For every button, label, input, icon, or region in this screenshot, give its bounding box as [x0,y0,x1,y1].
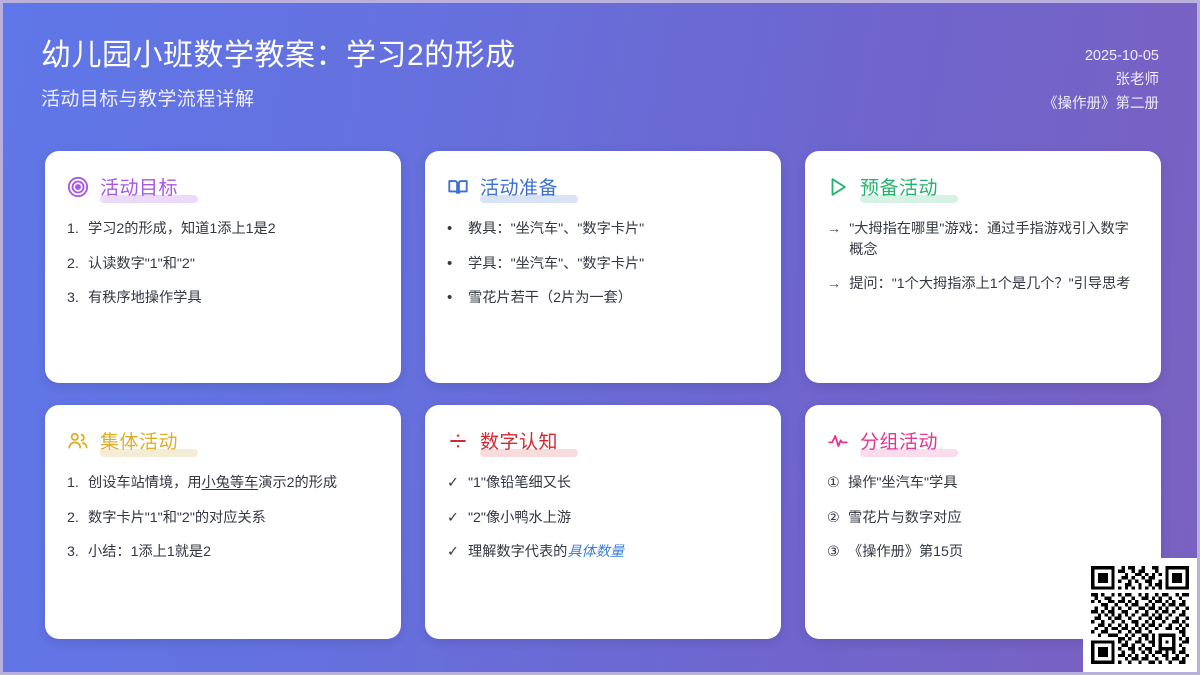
card-title: 分组活动 [860,427,938,454]
list-item: → 提问："1个大拇指添上1个是几个？"引导思考 [827,274,1139,295]
card-activity-goals[interactable]: 活动目标 1. 学习2的形成，知道1添上1是2 2. 认读数字"1"和"2" 3… [45,151,401,383]
header-meta: 2025-10-05 张老师 《操作册》第二册 [1043,31,1159,117]
card-list: ① 操作"坐汽车"学具 ② 雪花片与数字对应 ③ 《操作册》第15页 [827,473,1139,563]
list-marker: 2. [67,254,80,275]
card-title: 预备活动 [860,173,938,200]
qr-code-icon [1091,566,1189,664]
list-marker: → [827,274,841,295]
list-item: ✓ "2"像小鸭水上游 [447,508,759,529]
list-marker: • [447,254,460,274]
list-marker: ✓ [447,473,460,494]
list-marker: ③ [827,542,840,563]
card-title: 活动准备 [480,173,558,200]
list-item: ① 操作"坐汽车"学具 [827,473,1139,494]
list-text: 雪花片与数字对应 [848,508,1139,529]
list-item: 2. 数字卡片"1"和"2"的对应关系 [67,508,379,529]
pulse-icon [827,430,849,452]
text-pre: 创设车站情境，用 [88,475,202,491]
list-item: ✓ 理解数字代表的具体数量 [447,542,759,563]
card-header: 集体活动 [67,427,379,454]
play-icon [827,176,849,198]
list-marker: 3. [67,542,80,563]
list-item: 3. 有秩序地操作学具 [67,288,379,309]
text-emphasis: 具体数量 [567,544,624,560]
list-item: → "大拇指在哪里"游戏：通过手指游戏引入数字概念 [827,219,1139,260]
list-marker: • [447,288,460,308]
list-item: ② 雪花片与数字对应 [827,508,1139,529]
list-item: • 教具："坐汽车"、"数字卡片" [447,219,759,240]
header-date: 2025-10-05 [1043,45,1159,69]
target-icon [67,176,89,198]
card-list: • 教具："坐汽车"、"数字卡片" • 学具："坐汽车"、"数字卡片" • 雪花… [447,219,759,309]
card-header: 活动准备 [447,173,759,200]
header-author: 张老师 [1043,69,1159,93]
list-marker: 1. [67,473,80,494]
list-item: 3. 小结：1添上1就是2 [67,542,379,563]
list-text: "大拇指在哪里"游戏：通过手指游戏引入数字概念 [849,219,1139,260]
list-item: • 学具："坐汽车"、"数字卡片" [447,254,759,275]
text-underlined: 小兔等车 [202,475,259,491]
slide-root: 幼儿园小班数学教案：学习2的形成 活动目标与教学流程详解 2025-10-05 … [3,3,1197,672]
list-item: 1. 创设车站情境，用小兔等车演示2的形成 [67,473,379,494]
card-preparatory-activity[interactable]: 预备活动 → "大拇指在哪里"游戏：通过手指游戏引入数字概念 → 提问："1个大… [805,151,1161,383]
list-item: ✓ "1"像铅笔细又长 [447,473,759,494]
card-number-recognition[interactable]: 数字认知 ✓ "1"像铅笔细又长 ✓ "2"像小鸭水上游 ✓ 理解数字代表的具体… [425,405,781,639]
text-post: 演示2的形成 [258,475,337,491]
card-group-activity[interactable]: 集体活动 1. 创设车站情境，用小兔等车演示2的形成 2. 数字卡片"1"和"2… [45,405,401,639]
list-text: 数字卡片"1"和"2"的对应关系 [88,508,379,529]
card-grid: 活动目标 1. 学习2的形成，知道1添上1是2 2. 认读数字"1"和"2" 3… [45,151,1155,639]
list-marker: 1. [67,219,80,240]
users-icon [67,430,89,452]
card-list: 1. 学习2的形成，知道1添上1是2 2. 认读数字"1"和"2" 3. 有秩序… [67,219,379,309]
list-text: 小结：1添上1就是2 [88,542,379,563]
card-title: 集体活动 [100,427,178,454]
divide-icon [447,430,469,452]
list-text: 创设车站情境，用小兔等车演示2的形成 [88,473,379,494]
list-marker: ① [827,473,840,494]
card-header: 分组活动 [827,427,1139,454]
list-item: • 雪花片若干（2片为一套） [447,288,759,309]
list-text: 操作"坐汽车"学具 [848,473,1139,494]
card-header: 活动目标 [67,173,379,200]
card-list: ✓ "1"像铅笔细又长 ✓ "2"像小鸭水上游 ✓ 理解数字代表的具体数量 [447,473,759,563]
list-marker: ✓ [447,542,460,563]
list-text: "2"像小鸭水上游 [468,508,759,529]
header-source: 《操作册》第二册 [1043,93,1159,117]
list-marker: → [827,219,841,240]
list-marker: 3. [67,288,80,309]
list-text: 有秩序地操作学具 [88,288,379,309]
book-icon [447,176,469,198]
qr-code-container[interactable] [1083,558,1197,672]
page-subtitle: 活动目标与教学流程详解 [41,84,516,111]
list-text: 教具："坐汽车"、"数字卡片" [468,219,759,240]
header-left: 幼儿园小班数学教案：学习2的形成 活动目标与教学流程详解 [41,31,516,111]
card-title: 活动目标 [100,173,178,200]
list-text: 学习2的形成，知道1添上1是2 [88,219,379,240]
text-pre: 理解数字代表的 [468,544,567,560]
list-text: "1"像铅笔细又长 [468,473,759,494]
list-marker: ② [827,508,840,529]
card-header: 数字认知 [447,427,759,454]
list-text: 学具："坐汽车"、"数字卡片" [468,254,759,275]
list-marker: • [447,219,460,239]
card-activity-preparation[interactable]: 活动准备 • 教具："坐汽车"、"数字卡片" • 学具："坐汽车"、"数字卡片"… [425,151,781,383]
list-text: 提问："1个大拇指添上1个是几个？"引导思考 [849,274,1139,295]
list-item: 2. 认读数字"1"和"2" [67,254,379,275]
card-list: 1. 创设车站情境，用小兔等车演示2的形成 2. 数字卡片"1"和"2"的对应关… [67,473,379,563]
list-text: 认读数字"1"和"2" [88,254,379,275]
list-marker: 2. [67,508,80,529]
card-title: 数字认知 [480,427,558,454]
list-item: 1. 学习2的形成，知道1添上1是2 [67,219,379,240]
list-text: 理解数字代表的具体数量 [468,542,759,563]
list-text: 雪花片若干（2片为一套） [468,288,759,309]
card-header: 预备活动 [827,173,1139,200]
list-marker: ✓ [447,508,460,529]
card-list: → "大拇指在哪里"游戏：通过手指游戏引入数字概念 → 提问："1个大拇指添上1… [827,219,1139,295]
slide-header: 幼儿园小班数学教案：学习2的形成 活动目标与教学流程详解 2025-10-05 … [3,3,1197,131]
page-title: 幼儿园小班数学教案：学习2的形成 [41,37,516,75]
